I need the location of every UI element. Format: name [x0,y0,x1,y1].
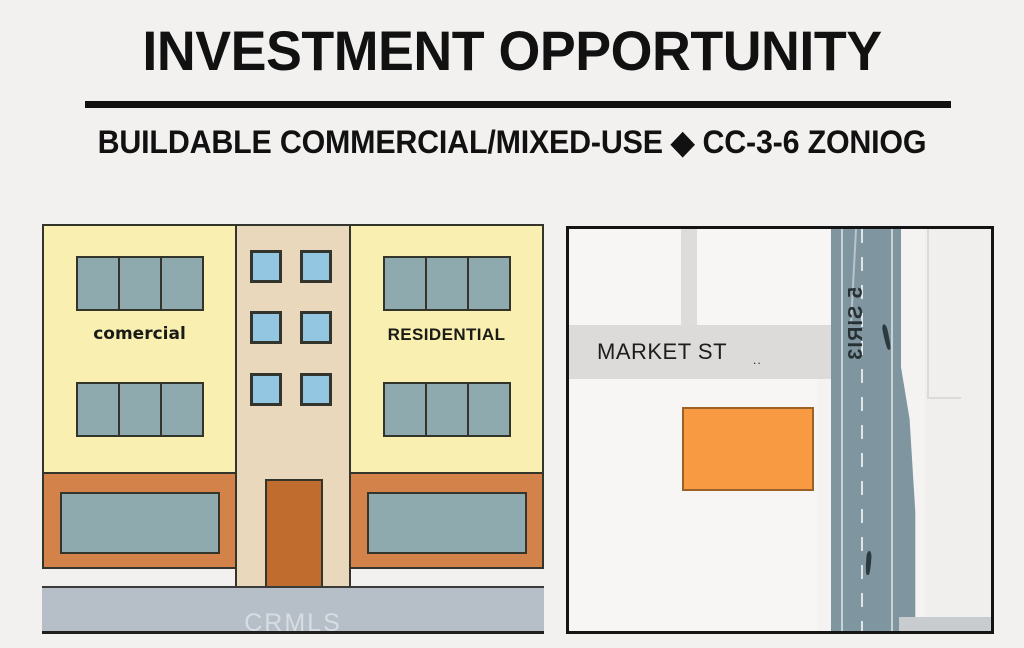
storefront-window-right [367,492,527,554]
building-illustration: comercial RESIDENTIAL CRMLS [42,224,544,634]
page-subtitle: BUILDABLE COMMERCIAL/MIXED-USE ◆ CC-3-6 … [26,123,999,161]
map-canvas: MARKET ST .. 5 SIRI3 [569,229,991,631]
map-block-northeast [697,229,830,327]
building-entrance-door [265,479,323,590]
site-map-panel: MARKET ST .. 5 SIRI3 [566,226,994,634]
map-block-northwest [569,229,681,327]
tower-window-5 [250,373,282,406]
map-far-block-edge [927,227,929,399]
tower-window-2 [300,250,332,283]
window-band-right-upper [383,256,511,311]
map-far-block-edge-2 [927,397,961,399]
commercial-label: comercial [42,324,237,344]
header-section: INVESTMENT OPPORTUNITY BUILDABLE COMMERC… [0,0,1024,200]
map-minor-road [681,229,697,329]
residential-label: RESIDENTIAL [349,325,544,345]
map-bottom-strip [899,617,991,631]
map-subject-parcel [682,407,814,491]
window-band-right-lower [383,382,511,437]
tower-window-4 [300,311,332,344]
map-vertical-street-label: 5 SIRI3 [845,287,868,377]
window-band-left-lower [76,382,204,437]
map-market-street-suffix: .. [753,353,762,367]
map-highway-edge-left [841,229,843,631]
map-highway-edge-right [891,229,893,631]
title-divider [85,101,951,108]
map-market-street-label: MARKET ST [597,339,727,365]
tower-window-3 [250,311,282,344]
tower-window-6 [300,373,332,406]
window-band-left-upper [76,256,204,311]
building-center-tower [235,224,351,588]
page-title: INVESTMENT OPPORTUNITY [20,18,1003,83]
crmls-watermark: CRMLS [42,609,544,638]
tower-window-1 [250,250,282,283]
storefront-window-left [60,492,220,554]
map-far-block [925,229,991,631]
map-highway-ramp [893,319,929,631]
